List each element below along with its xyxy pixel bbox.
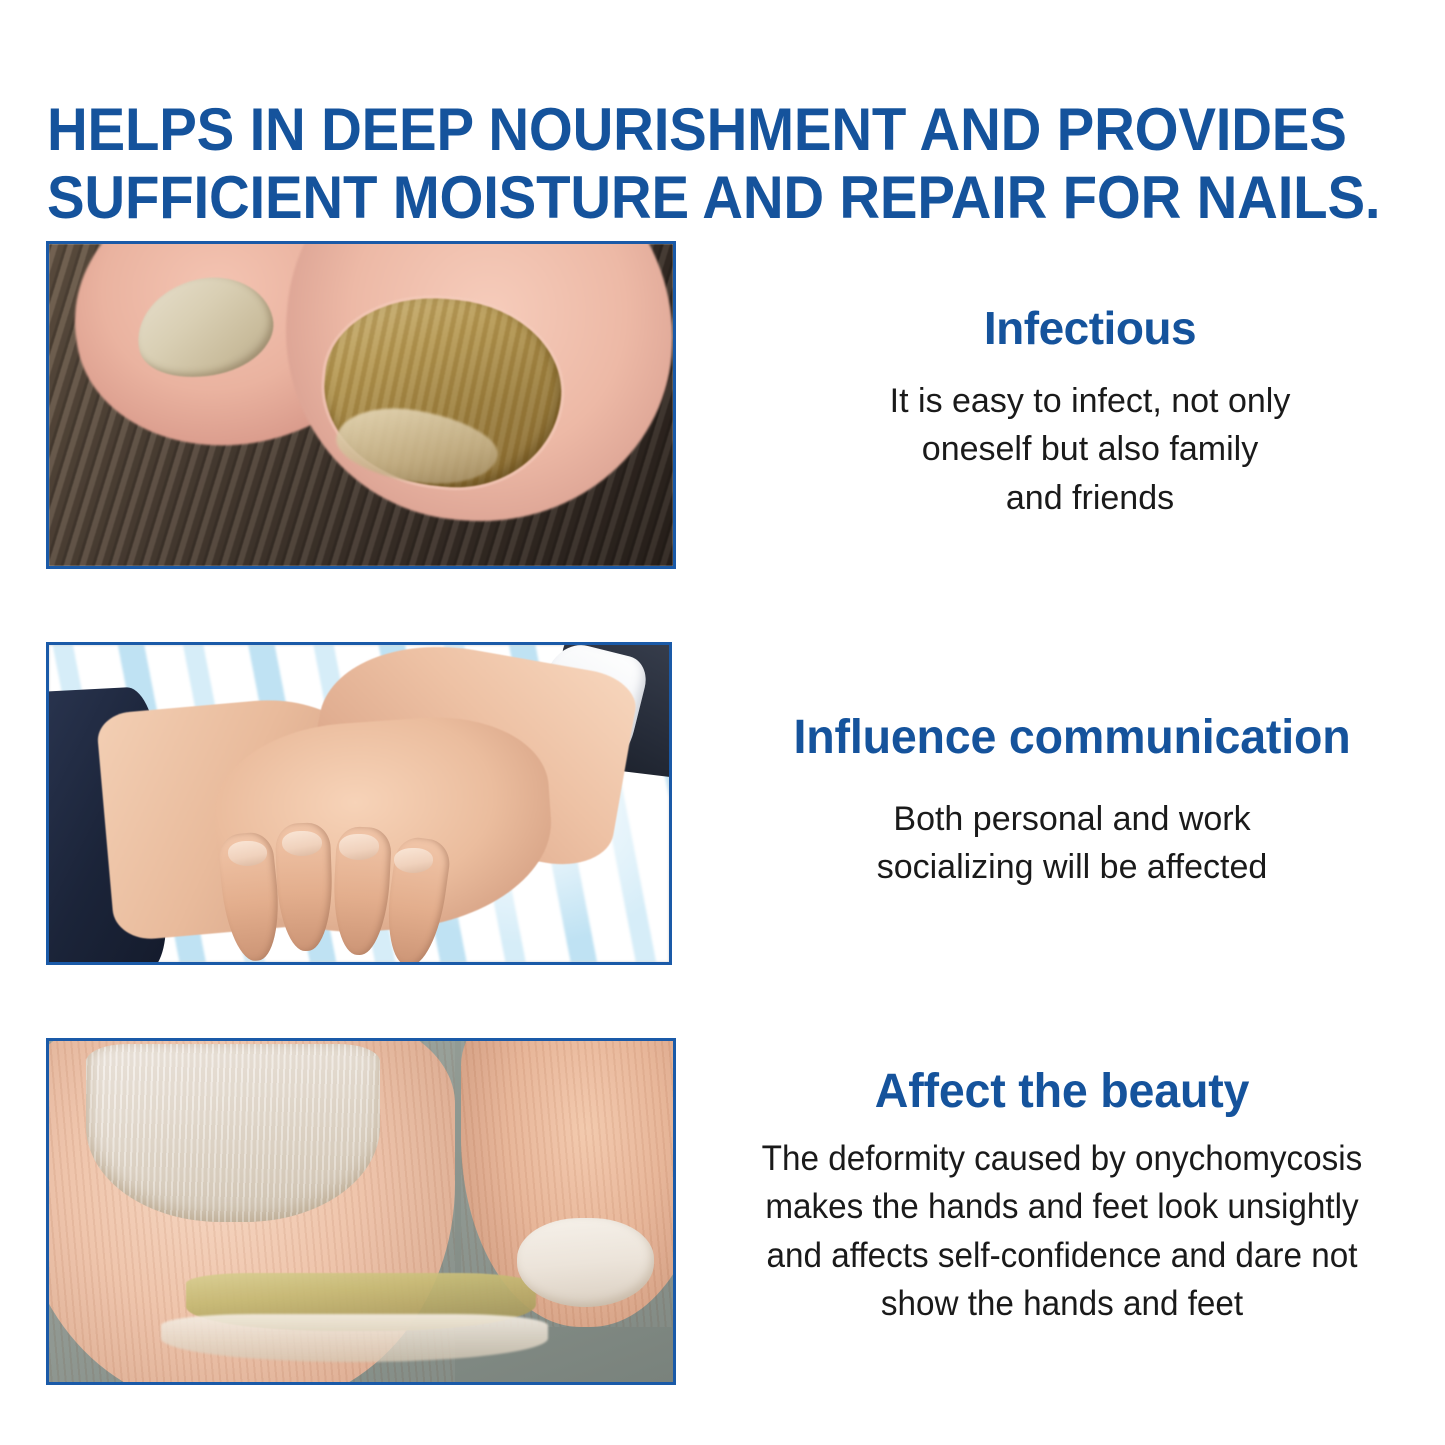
body-line: Both personal and work [722, 795, 1422, 843]
section-infectious: Infectious It is easy to infect, not onl… [0, 241, 1445, 569]
section-affect-the-beauty: Affect the beauty The deformity caused b… [0, 1038, 1445, 1385]
headline-line-1: HELPS IN DEEP NOURISHMENT AND PROVIDES [47, 96, 1307, 164]
infographic-page: HELPS IN DEEP NOURISHMENT AND PROVIDES S… [0, 0, 1445, 1445]
card-title-infectious: Infectious [745, 301, 1435, 355]
body-line: show the hands and feet [711, 1280, 1414, 1328]
headline-line-2: SUFFICIENT MOISTURE AND REPAIR FOR NAILS… [47, 164, 1307, 232]
fingernail [339, 834, 379, 859]
card-body-affect-the-beauty: The deformity caused by onychomycosis ma… [711, 1135, 1414, 1328]
photo-handshake [46, 642, 672, 965]
body-line: The deformity caused by onychomycosis [711, 1135, 1414, 1183]
body-line: It is easy to infect, not only [745, 377, 1435, 425]
card-body-infectious: It is easy to infect, not only oneself b… [745, 377, 1435, 522]
body-line: socializing will be affected [722, 843, 1422, 891]
toenail-healthy [517, 1218, 654, 1307]
photo-damaged-toenail-closeup [46, 1038, 676, 1385]
text-block-infectious: Infectious It is easy to infect, not onl… [745, 301, 1435, 522]
toenail-damaged [86, 1044, 379, 1221]
nail-ridges [86, 1044, 379, 1221]
body-line: oneself but also family [745, 425, 1435, 473]
fingers-group [223, 823, 471, 956]
text-block-affect-the-beauty: Affect the beauty The deformity caused b… [692, 1064, 1432, 1328]
card-title-affect-the-beauty: Affect the beauty [703, 1064, 1421, 1119]
body-line: and affects self-confidence and dare not [711, 1232, 1414, 1280]
body-line: makes the hands and feet look unsightly [711, 1183, 1414, 1231]
text-block-influence-communication: Influence communication Both personal an… [722, 710, 1422, 892]
card-body-influence-communication: Both personal and work socializing will … [722, 795, 1422, 892]
section-influence-communication: Influence communication Both personal an… [0, 642, 1445, 965]
fingernail [282, 831, 322, 856]
photo-infected-toenails [46, 241, 676, 569]
nail-free-edge [161, 1314, 548, 1362]
page-headline: HELPS IN DEEP NOURISHMENT AND PROVIDES S… [47, 96, 1307, 232]
card-title-influence-communication: Influence communication [733, 710, 1412, 765]
body-line: and friends [745, 474, 1435, 522]
